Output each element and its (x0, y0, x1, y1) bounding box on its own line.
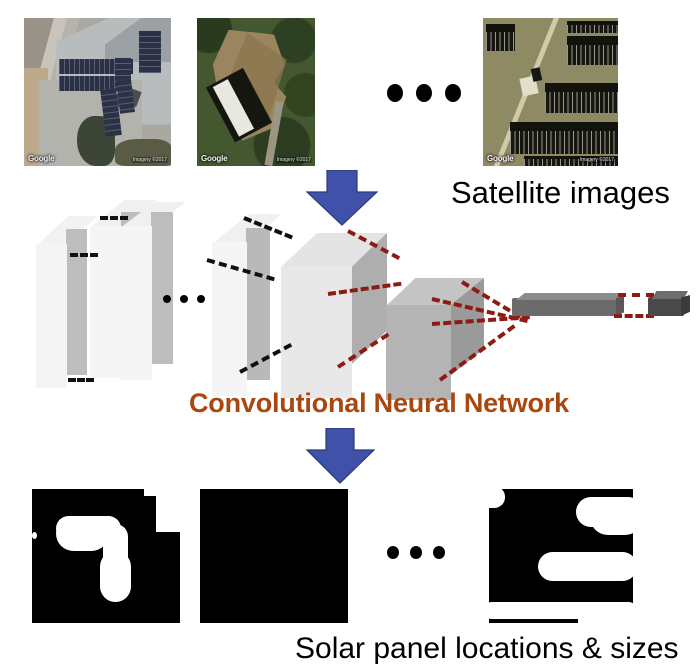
cnn-label: Convolutional Neural Network (189, 388, 569, 419)
satellite-image-tile-3: Google Imagery ©2017 (483, 18, 618, 166)
mask1-blob-right-edge (156, 489, 180, 532)
slab2b-side-face (151, 212, 173, 364)
input-row-ellipsis (387, 84, 461, 102)
ellipsis-dot (180, 295, 188, 303)
google-watermark: Google (201, 155, 227, 163)
cnn-ellipsis (163, 295, 205, 303)
ellipsis-dot (433, 546, 445, 559)
cnn-layer-cube-5 (386, 278, 484, 398)
arrow-images-to-cnn (305, 170, 379, 226)
mask3-blob-middle (538, 552, 637, 581)
segmentation-mask-3 (489, 489, 637, 623)
slab-dash-top (100, 216, 128, 220)
tile3-building-dark (530, 67, 542, 82)
ellipsis-dot (416, 84, 432, 102)
cube5-front-face (386, 305, 451, 400)
tile3-panel-row-1 (486, 24, 516, 51)
block4-front-face (281, 266, 352, 398)
mask1-blob-horizontal-2 (56, 516, 109, 551)
slab-dash-bottom (68, 378, 94, 382)
slab-dash-mid (70, 253, 98, 257)
satellite-images-label: Satellite images (451, 175, 670, 211)
cnn-layer-slab-1 (36, 216, 98, 388)
cnn-layer-slab-2b (120, 202, 186, 382)
segmentation-mask-1 (32, 489, 180, 623)
slab2b-front-face (120, 226, 152, 380)
mask3-blob-right-edge (633, 489, 637, 623)
ellipsis-dot (387, 546, 399, 559)
tile3-panel-row-2 (567, 21, 618, 33)
satellite-image-tile-2: Google Imagery ©2017 (197, 18, 315, 166)
slab1-front-cover (36, 244, 67, 388)
ellipsis-dot (163, 295, 171, 303)
imagery-attribution: Imagery ©2017 (276, 157, 312, 164)
ellipsis-dot (410, 546, 422, 559)
arrow-cnn-to-output (306, 428, 376, 484)
ellipsis-dot (445, 84, 461, 102)
slab1-side-shade (66, 229, 87, 375)
imagery-attribution: Imagery ©2017 (132, 157, 168, 164)
cnn-output-bar (648, 291, 690, 317)
mask3-blob-top-right-2 (590, 497, 637, 535)
figure-canvas: Google Imagery ©2017 Google Imagery ©201… (0, 0, 697, 670)
tile3-panel-row-4 (545, 83, 618, 113)
tile3-panel-row-5 (510, 122, 618, 155)
imagery-attribution: Imagery ©2017 (579, 157, 615, 164)
mask1-blob-vertical-bulb (100, 551, 131, 602)
google-watermark: Google (28, 155, 54, 163)
ellipsis-dot (197, 295, 205, 303)
mask3-blob-left-edge (489, 489, 492, 508)
cnn-layer-block-4 (281, 233, 387, 399)
segmentation-mask-2 (200, 489, 348, 623)
tile1-panel-row-c (139, 31, 161, 72)
ellipsis-dot (387, 84, 403, 102)
mask1-blob-dot (32, 532, 37, 539)
mask3-blob-bottom-right (578, 614, 637, 623)
slab2-front-face (90, 226, 122, 378)
output-row-ellipsis (387, 546, 445, 559)
tile3-panel-row-3 (567, 36, 618, 66)
solar-panel-locations-label: Solar panel locations & sizes (295, 632, 679, 666)
google-watermark: Google (487, 155, 513, 163)
cnn-fully-connected-bar (512, 293, 624, 317)
satellite-image-tile-1: Google Imagery ©2017 (24, 18, 171, 166)
